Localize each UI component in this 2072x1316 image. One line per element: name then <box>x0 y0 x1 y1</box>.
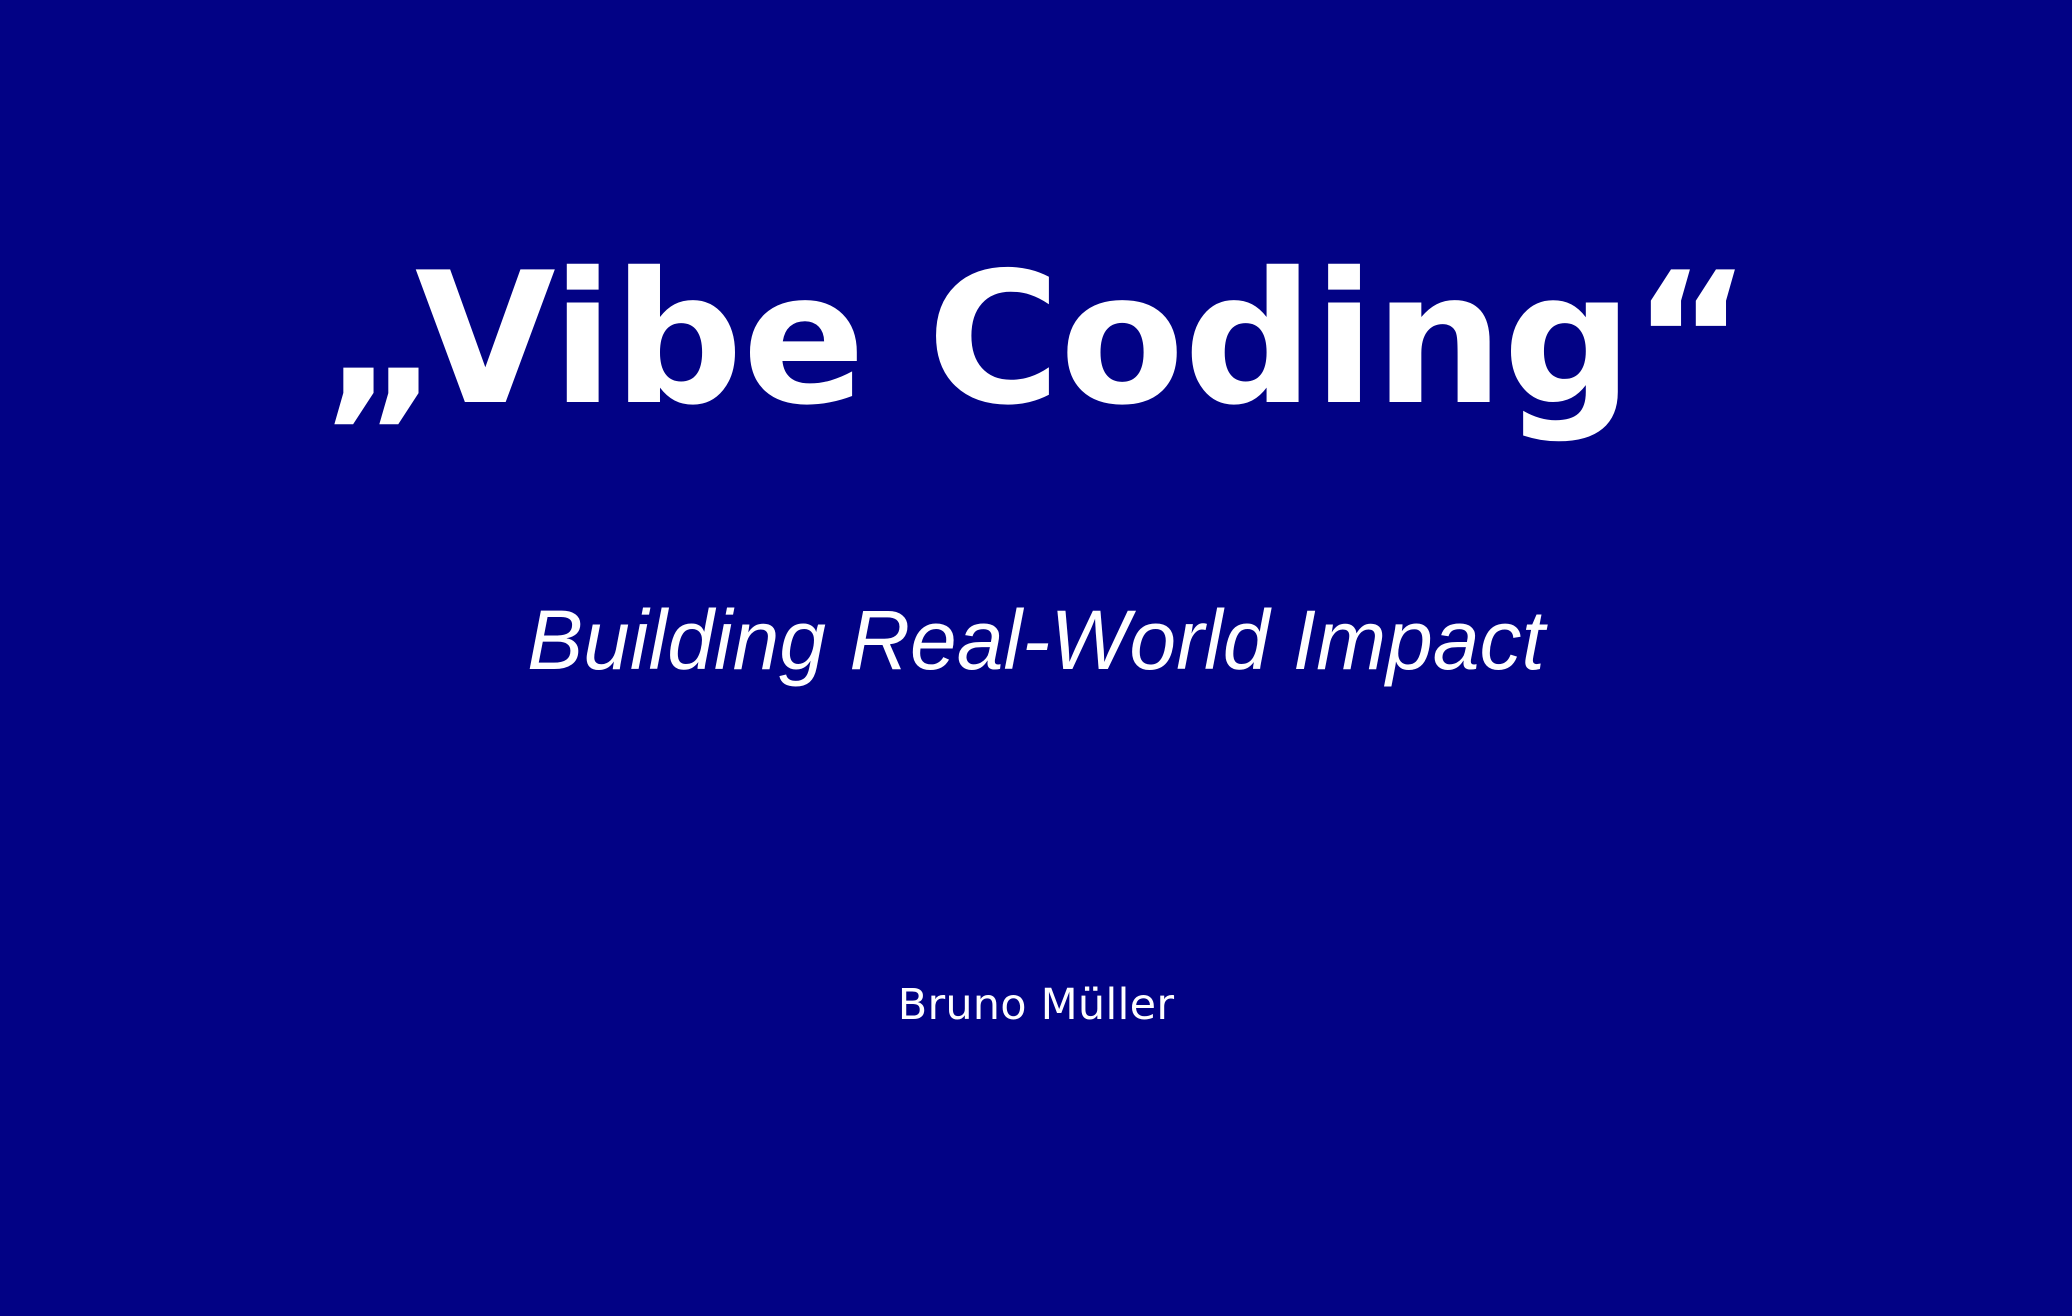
author-container: Bruno Müller <box>0 982 2072 1029</box>
page-title: „Vibe Coding“ <box>321 248 1750 430</box>
slide-subtitle: Building Real-World Impact <box>527 596 1545 684</box>
author-name: Bruno Müller <box>898 982 1174 1029</box>
subtitle-container: Building Real-World Impact <box>0 596 2072 684</box>
title-container: „Vibe Coding“ <box>0 0 2072 430</box>
title-slide: „Vibe Coding“ Building Real-World Impact… <box>0 0 2072 1316</box>
